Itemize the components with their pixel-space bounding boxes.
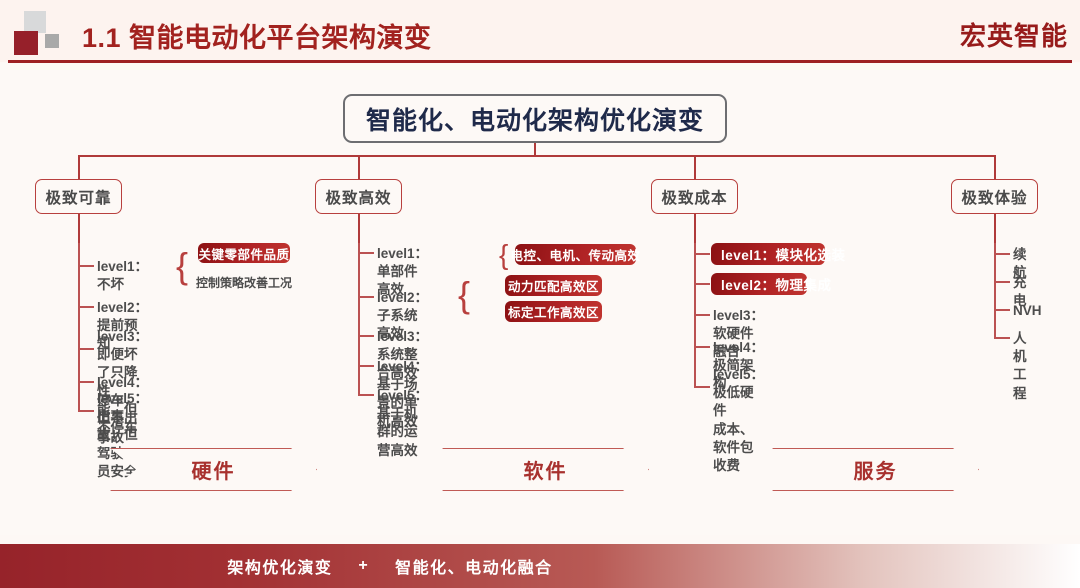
column3-tick-3 bbox=[694, 314, 710, 316]
column3-tick-4 bbox=[694, 346, 710, 348]
root-node: 智能化、电动化架构优化演变 bbox=[343, 94, 727, 143]
column1-spine bbox=[78, 243, 80, 410]
column4-tick-1 bbox=[994, 253, 1010, 255]
column4-tick-2 bbox=[994, 281, 1010, 283]
highlight-pill-power-match: 动力匹配高效区 bbox=[505, 275, 602, 296]
diagram-canvas: 智能化、电动化架构优化演变 极致可靠 极致高效 极致成本 极致体验 level1… bbox=[0, 63, 1080, 535]
category-box-efficiency[interactable]: 极致高效 bbox=[315, 179, 402, 214]
brand-logo: 宏英智能 bbox=[960, 16, 1068, 53]
footer-content: 架构优化演变 + 智能化、电动化融合 bbox=[0, 544, 780, 588]
stage-chevron-service[interactable]: 服务 bbox=[772, 448, 979, 491]
list-item: level5：基于机群的运营高效 bbox=[377, 387, 428, 460]
footer-text-left: 架构优化演变 bbox=[227, 554, 332, 578]
column1-tick-1 bbox=[78, 265, 94, 267]
column2-tick-4 bbox=[358, 365, 374, 367]
category-label-efficiency: 极致高效 bbox=[325, 186, 391, 208]
root-node-label: 智能化、电动化架构优化演变 bbox=[366, 101, 704, 137]
column1-tick-2 bbox=[78, 306, 94, 308]
column3-tick-5 bbox=[694, 386, 710, 388]
connector-horizontal-bus bbox=[78, 155, 996, 157]
column2-tick-3 bbox=[358, 335, 374, 337]
list-item: level5：极低硬件 成本、软件包收费 bbox=[713, 366, 764, 475]
stage-label-hardware: 硬件 bbox=[192, 455, 236, 484]
column2-tick-1 bbox=[358, 252, 374, 254]
category-label-experience: 极致体验 bbox=[961, 186, 1027, 208]
header-bar: 1.1 智能电动化平台架构演变 宏英智能 bbox=[0, 0, 1080, 62]
category-box-experience[interactable]: 极致体验 bbox=[951, 179, 1038, 214]
column4-tick-4 bbox=[994, 337, 1010, 339]
column2-tick-2 bbox=[358, 296, 374, 298]
connector-drop-3 bbox=[694, 155, 696, 179]
list-item: level1：不坏 bbox=[97, 258, 148, 294]
category-box-cost[interactable]: 极致成本 bbox=[651, 179, 738, 214]
footer-text-right: 智能化、电动化融合 bbox=[395, 554, 553, 578]
connector-drop-2 bbox=[358, 155, 360, 179]
column2-spine bbox=[358, 243, 360, 395]
category-label-reliability: 极致可靠 bbox=[45, 186, 111, 208]
list-item: level2：物理集成 bbox=[711, 273, 807, 295]
stage-chevron-software[interactable]: 软件 bbox=[442, 448, 649, 491]
column4-spine bbox=[994, 243, 996, 338]
page-title: 1.1 智能电动化平台架构演变 bbox=[82, 16, 432, 55]
category-label-cost: 极致成本 bbox=[661, 186, 727, 208]
highlight-pill-key-parts: 关键零部件品质 bbox=[198, 243, 290, 263]
connector-drop-1 bbox=[78, 155, 80, 179]
list-item: level1：模块化选装 bbox=[711, 243, 825, 265]
column1-tick-3 bbox=[78, 348, 94, 350]
category-box-reliability[interactable]: 极致可靠 bbox=[35, 179, 122, 214]
brace-icon: { bbox=[458, 277, 470, 313]
column3-tick-1 bbox=[694, 253, 710, 255]
connector-drop-4 bbox=[994, 155, 996, 179]
stage-chevron-hardware[interactable]: 硬件 bbox=[110, 448, 317, 491]
sub-note-control-strategy: 控制策略改善工况 bbox=[196, 274, 292, 291]
brace-icon: { bbox=[176, 248, 188, 284]
stage-label-service: 服务 bbox=[854, 455, 898, 484]
column1-tick-4 bbox=[78, 381, 94, 383]
column1-tick-5 bbox=[78, 410, 94, 412]
list-item: 人机工程 bbox=[1013, 330, 1027, 403]
decorative-square-gray-small bbox=[45, 34, 59, 48]
column2-tick-5 bbox=[358, 394, 374, 396]
column4-tick-3 bbox=[994, 309, 1010, 311]
stage-label-software: 软件 bbox=[524, 455, 568, 484]
decorative-square-red bbox=[14, 31, 38, 55]
decorative-square-gray-top bbox=[24, 11, 46, 33]
highlight-pill-calibration: 标定工作高效区 bbox=[505, 301, 602, 322]
footer-bar: 架构优化演变 + 智能化、电动化融合 bbox=[0, 544, 1080, 588]
brace-icon: { bbox=[499, 241, 508, 269]
footer-plus-symbol: + bbox=[358, 557, 369, 575]
highlight-pill-drive-efficiency: 电控、电机、传动高效 bbox=[515, 244, 636, 265]
list-item: NVH bbox=[1013, 302, 1042, 320]
column3-tick-2 bbox=[694, 283, 710, 285]
